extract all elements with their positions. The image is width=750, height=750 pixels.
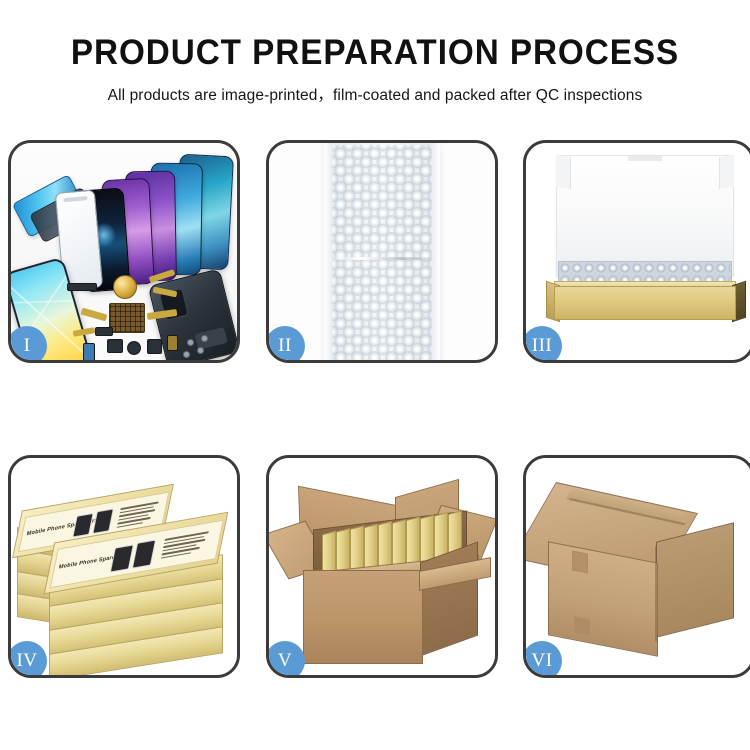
component-2 bbox=[107, 339, 123, 353]
speaker-coil-icon bbox=[113, 275, 137, 299]
label-lines-front bbox=[161, 531, 211, 559]
step-badge-1: I bbox=[8, 326, 47, 363]
stacked-boxes-scene: Mobile Phone Spare Parts bbox=[11, 458, 237, 675]
component-5 bbox=[83, 343, 95, 360]
carton-vertical-edge bbox=[655, 546, 657, 642]
open-carton-scene bbox=[269, 458, 495, 675]
white-box-lid bbox=[556, 155, 734, 277]
wrap-seam bbox=[324, 257, 440, 260]
chip-array-icon bbox=[109, 303, 145, 333]
kraft-tray-front bbox=[554, 286, 736, 320]
sealed-carton-side bbox=[656, 522, 734, 637]
box-stack: Mobile Phone Spare Parts bbox=[13, 472, 237, 672]
component-3 bbox=[127, 341, 141, 355]
product-preparation-infographic: PRODUCT PREPARATION PROCESS All products… bbox=[0, 0, 750, 750]
label-screen-f2 bbox=[132, 539, 156, 568]
process-step-4[interactable]: Mobile Phone Spare Parts bbox=[8, 455, 240, 678]
component-4 bbox=[147, 339, 162, 354]
step-3-image bbox=[526, 143, 750, 360]
carton-tab-upper bbox=[572, 550, 588, 573]
bubble-wrap-strip bbox=[324, 143, 440, 360]
screw-1 bbox=[187, 339, 194, 346]
step-badge-5: V bbox=[266, 641, 305, 678]
component-1 bbox=[67, 283, 97, 291]
screw-2 bbox=[197, 347, 204, 354]
wrap-edge-right bbox=[431, 143, 440, 360]
process-step-3[interactable]: III bbox=[523, 140, 750, 363]
step-badge-4: IV bbox=[8, 641, 47, 678]
screw-4 bbox=[201, 335, 208, 342]
carton-tab-lower bbox=[574, 616, 590, 635]
wrap-edge-left bbox=[324, 143, 333, 360]
lid-notch bbox=[628, 156, 662, 161]
step-2-image bbox=[269, 143, 495, 360]
flex-cable-4 bbox=[81, 308, 108, 322]
process-step-6[interactable]: VI bbox=[523, 455, 750, 678]
process-step-5[interactable]: V bbox=[266, 455, 498, 678]
sealed-carton-scene bbox=[526, 458, 750, 675]
label-screen-r2 bbox=[92, 508, 114, 534]
label-screen-r1 bbox=[72, 513, 93, 538]
carton-front-face bbox=[303, 570, 423, 664]
process-step-2[interactable]: II bbox=[266, 140, 498, 363]
process-step-grid: I II bbox=[0, 0, 750, 750]
phone-parts-scene bbox=[11, 143, 237, 360]
step-badge-3: III bbox=[523, 326, 562, 363]
step-4-image: Mobile Phone Spare Parts bbox=[11, 458, 237, 675]
component-7 bbox=[95, 327, 113, 336]
sealed-carton-front bbox=[548, 541, 658, 656]
step-badge-6: VI bbox=[523, 641, 562, 678]
carton-side-face bbox=[420, 541, 478, 656]
step-1-image bbox=[11, 143, 237, 360]
process-step-1[interactable]: I bbox=[8, 140, 240, 363]
step-5-image bbox=[269, 458, 495, 675]
screw-3 bbox=[183, 351, 190, 358]
bubble-wrap-scene bbox=[269, 143, 495, 360]
label-screen-f1 bbox=[110, 544, 134, 572]
inner-box-scene bbox=[526, 143, 750, 360]
component-6 bbox=[167, 335, 178, 351]
step-badge-2: II bbox=[266, 326, 305, 363]
bubble-pattern bbox=[332, 145, 432, 360]
lid-flap-right bbox=[719, 155, 734, 190]
lid-flap-left bbox=[556, 155, 571, 190]
step-6-image bbox=[526, 458, 750, 675]
